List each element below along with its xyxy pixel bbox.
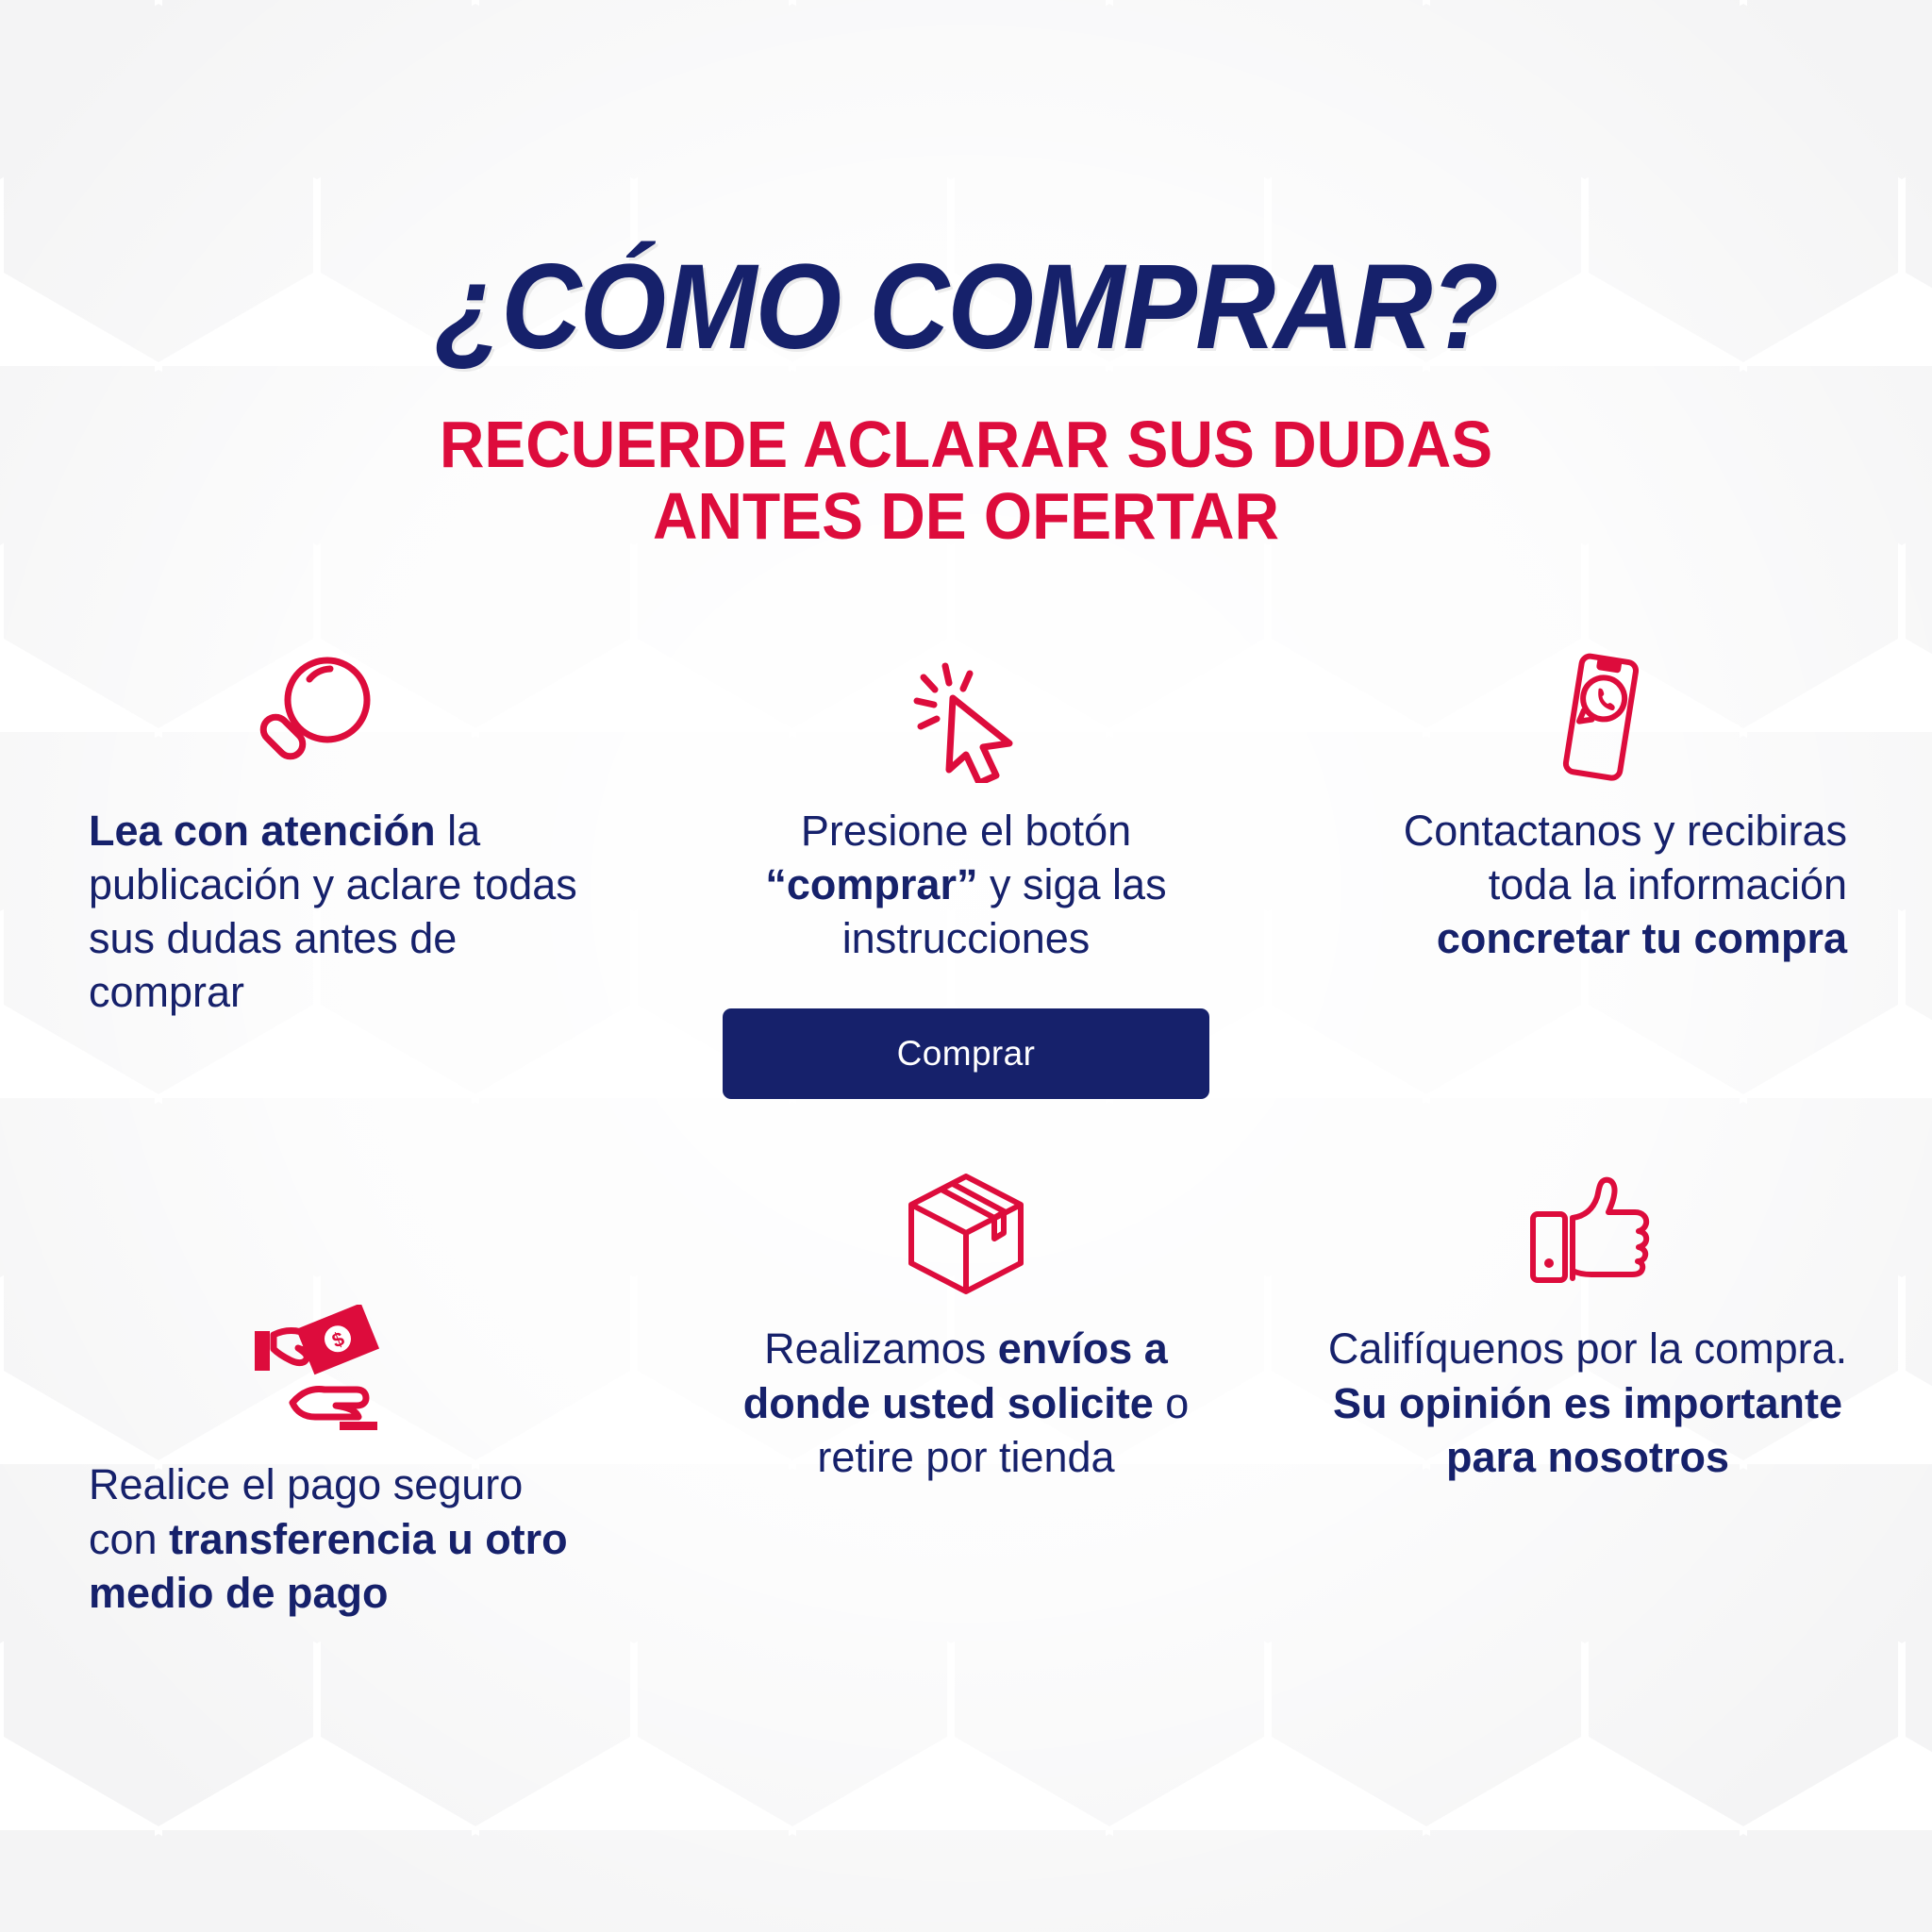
click-cursor-icon — [911, 660, 1021, 783]
whatsapp-phone-icon — [1543, 651, 1657, 783]
step-text-press-buy: Presione el botón “comprar” y siga las i… — [709, 804, 1223, 965]
steps-grid: Lea con atención la publicación y aclare… — [57, 651, 1875, 1620]
step-text-plain: Califíquenos por la compra. — [1328, 1324, 1847, 1373]
step-text-bold: Lea con atención — [89, 807, 436, 855]
package-box-icon — [900, 1159, 1032, 1301]
step-text-bold: “comprar” — [765, 860, 977, 908]
step-text-plain-1: Presione el botón — [801, 807, 1131, 855]
thumbs-up-icon-wrap — [1324, 1122, 1851, 1301]
subtitle-line-2: ANTES DE OFERTAR — [58, 481, 1874, 553]
magnifier-icon-wrap — [89, 651, 589, 783]
step-text-bold: concretar tu compra — [1437, 914, 1847, 962]
cursor-arrow-shape — [949, 698, 1009, 783]
page-title: ¿CÓMO COMPRAR? — [77, 0, 1855, 368]
magnifier-icon — [249, 651, 374, 783]
step-card-secure-payment: $ Realice el pago seguro con transferenc… — [57, 1099, 645, 1619]
step-text-contact-us: Contactanos y recibiras toda la informac… — [1343, 804, 1847, 965]
step-text-plain: Contactanos y recibiras toda la informac… — [1404, 807, 1847, 908]
step-text-bold: Su opinión es importante para nosotros — [1333, 1379, 1842, 1481]
step-text-read-listing: Lea con atención la publicación y aclare… — [89, 804, 589, 1020]
step-card-press-buy: Presione el botón “comprar” y siga las i… — [672, 651, 1260, 1099]
step-card-read-listing: Lea con atención la publicación y aclare… — [57, 651, 645, 1099]
page-subtitle: RECUERDE ACLARAR SUS DUDAS ANTES DE OFER… — [58, 368, 1874, 552]
step-card-contact-us: Contactanos y recibiras toda la informac… — [1287, 651, 1875, 1099]
step-card-rate-us: Califíquenos por la compra. Su opinión e… — [1287, 1099, 1875, 1619]
subtitle-line-1: RECUERDE ACLARAR SUS DUDAS — [58, 409, 1874, 481]
step-card-shipping: Realizamos envíos a donde usted solicite… — [672, 1099, 1260, 1619]
step-text-shipping: Realizamos envíos a donde usted solicite… — [698, 1322, 1234, 1483]
cash-hands-icon: $ — [249, 1305, 400, 1437]
thumbs-up-icon — [1525, 1169, 1650, 1301]
step-text-rate-us: Califíquenos por la compra. Su opinión e… — [1324, 1322, 1851, 1483]
header: ¿CÓMO COMPRAR? RECUERDE ACLARAR SUS DUDA… — [0, 0, 1932, 552]
step-text-plain-1: Realizamos — [764, 1324, 998, 1373]
package-box-icon-wrap — [698, 1122, 1234, 1301]
infographic-page: ¿CÓMO COMPRAR? RECUERDE ACLARAR SUS DUDA… — [0, 0, 1932, 1932]
cash-hands-icon-wrap: $ — [89, 1257, 589, 1437]
buy-button[interactable]: Comprar — [723, 1008, 1209, 1099]
whatsapp-phone-icon-wrap — [1343, 651, 1847, 783]
click-cursor-icon-wrap — [709, 651, 1223, 783]
step-text-secure-payment: Realice el pago seguro con transferencia… — [89, 1457, 589, 1619]
